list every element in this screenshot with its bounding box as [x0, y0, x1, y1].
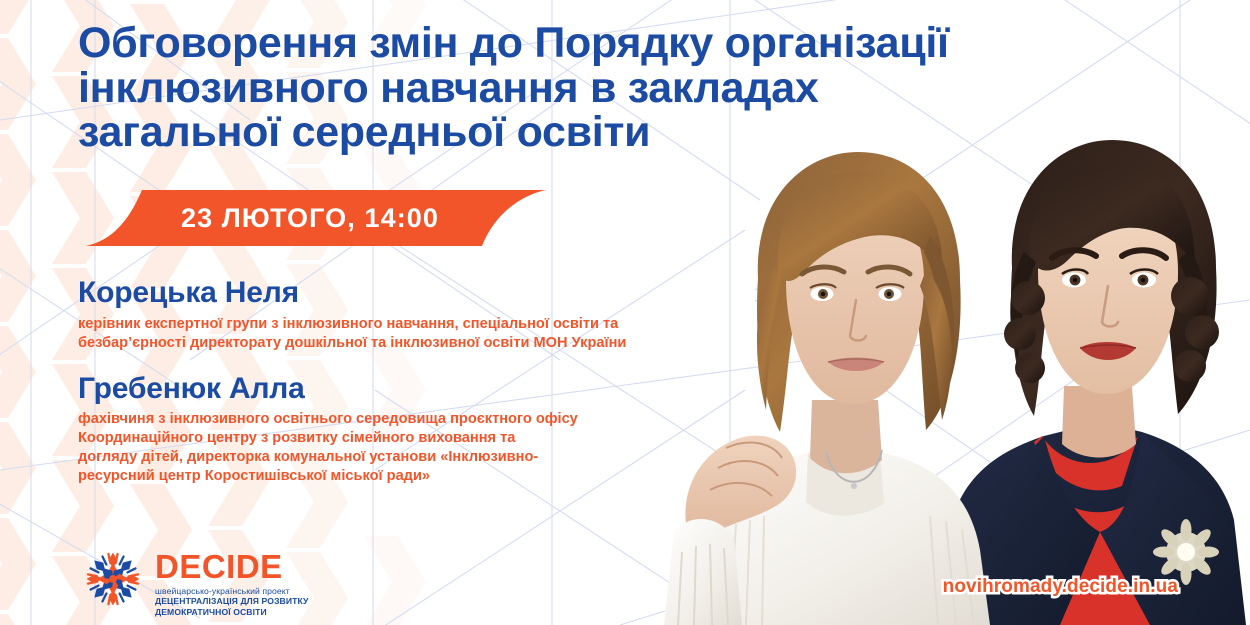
date-ribbon-label: 23 ЛЮТОГО, 14:00: [86, 190, 546, 246]
speaker-role: фахівчиня з інклюзивного освітнього сере…: [78, 410, 578, 486]
page-title: Обговорення змін до Порядку організації …: [78, 21, 1078, 155]
title-line-3: загальної середньої освіти: [78, 110, 1078, 155]
portrait-left: [664, 152, 990, 625]
site-url[interactable]: novihromady.decide.in.ua novihromady.dec…: [943, 576, 1178, 598]
date-ribbon: 23 ЛЮТОГО, 14:00: [86, 190, 546, 246]
decide-tagline-3: ДЕМОКРАТИЧНОЇ ОСВІТИ: [155, 607, 308, 617]
decide-logo: DECIDE швейцарсько-український проект ДЕ…: [80, 546, 308, 617]
speaker-item: Гребенюк Алла фахівчиня з інклюзивного о…: [78, 372, 678, 486]
poster-canvas: Обговорення змін до Порядку організації …: [0, 0, 1250, 625]
site-url-label: novihromady.decide.in.ua: [943, 576, 1178, 597]
speaker-name: Корецька Неля: [78, 276, 678, 310]
title-line-2: інклюзивного навчання в закладах: [78, 66, 1078, 111]
decide-wordmark: DECIDE: [155, 550, 308, 583]
decide-tagline-1: швейцарсько-український проект: [155, 586, 308, 596]
speakers-photo: [630, 100, 1250, 625]
title-line-1: Обговорення змін до Порядку організації: [78, 21, 1078, 66]
decide-logo-text: DECIDE швейцарсько-український проект ДЕ…: [155, 546, 308, 617]
decide-tagline-2: ДЕЦЕНТРАЛІЗАЦІЯ ДЛЯ РОЗВИТКУ: [155, 596, 308, 606]
speaker-name: Гребенюк Алла: [78, 372, 678, 406]
speaker-role: керівник експертної групи з інклюзивного…: [78, 315, 648, 353]
speakers-list: Корецька Неля керівник експертної групи …: [78, 276, 678, 498]
speaker-item: Корецька Неля керівник експертної групи …: [78, 276, 678, 353]
decide-star-ornament-icon: [80, 546, 146, 612]
